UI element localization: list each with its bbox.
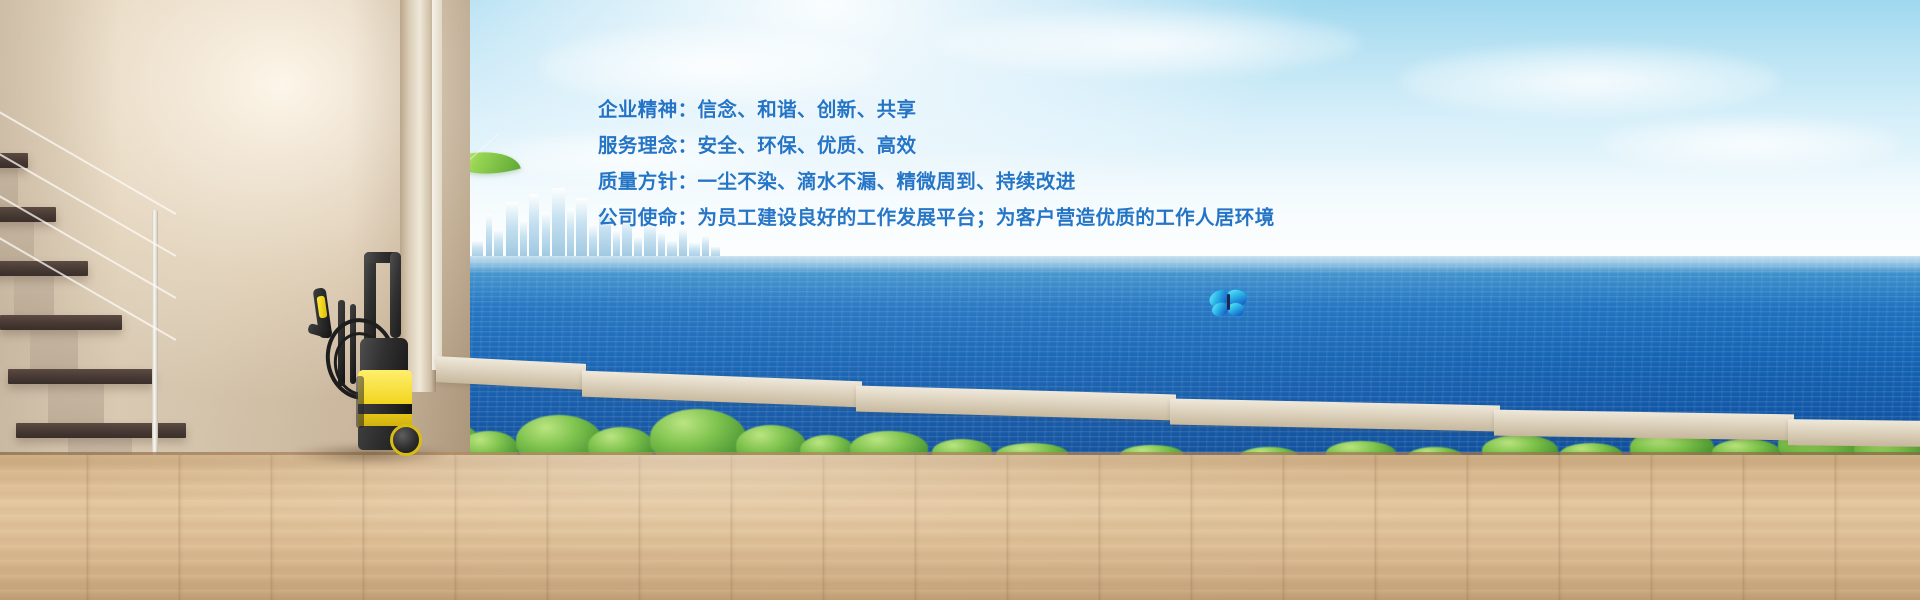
butterfly-icon — [1208, 288, 1248, 328]
culture-line-quality: 质量方针：一尘不染、滴水不漏、精微周到、持续改进 — [598, 164, 1358, 200]
baseboard-icon — [436, 330, 1920, 458]
culture-banner: 企业精神：信念、和谐、创新、共享 服务理念：安全、环保、优质、高效 质量方针：一… — [0, 0, 1920, 600]
floor-reflection — [0, 455, 1920, 600]
glass-handrail-icon — [152, 210, 158, 470]
wheel-icon — [390, 424, 422, 456]
wood-floor-icon — [0, 455, 1920, 600]
culture-line-spirit: 企业精神：信念、和谐、创新、共享 — [598, 92, 1358, 128]
cloud-icon — [940, 10, 1360, 76]
culture-line-mission: 公司使命：为员工建设良好的工作发展平台；为客户营造优质的工作人居环境 — [598, 200, 1358, 236]
pressure-washer-icon — [306, 252, 418, 458]
floating-stair-icon — [0, 95, 175, 425]
culture-text-block: 企业精神：信念、和谐、创新、共享 服务理念：安全、环保、优质、高效 质量方针：一… — [598, 92, 1358, 236]
window-inner-edge — [432, 0, 442, 370]
culture-line-service: 服务理念：安全、环保、优质、高效 — [598, 128, 1358, 164]
cloud-icon — [1400, 46, 1780, 116]
